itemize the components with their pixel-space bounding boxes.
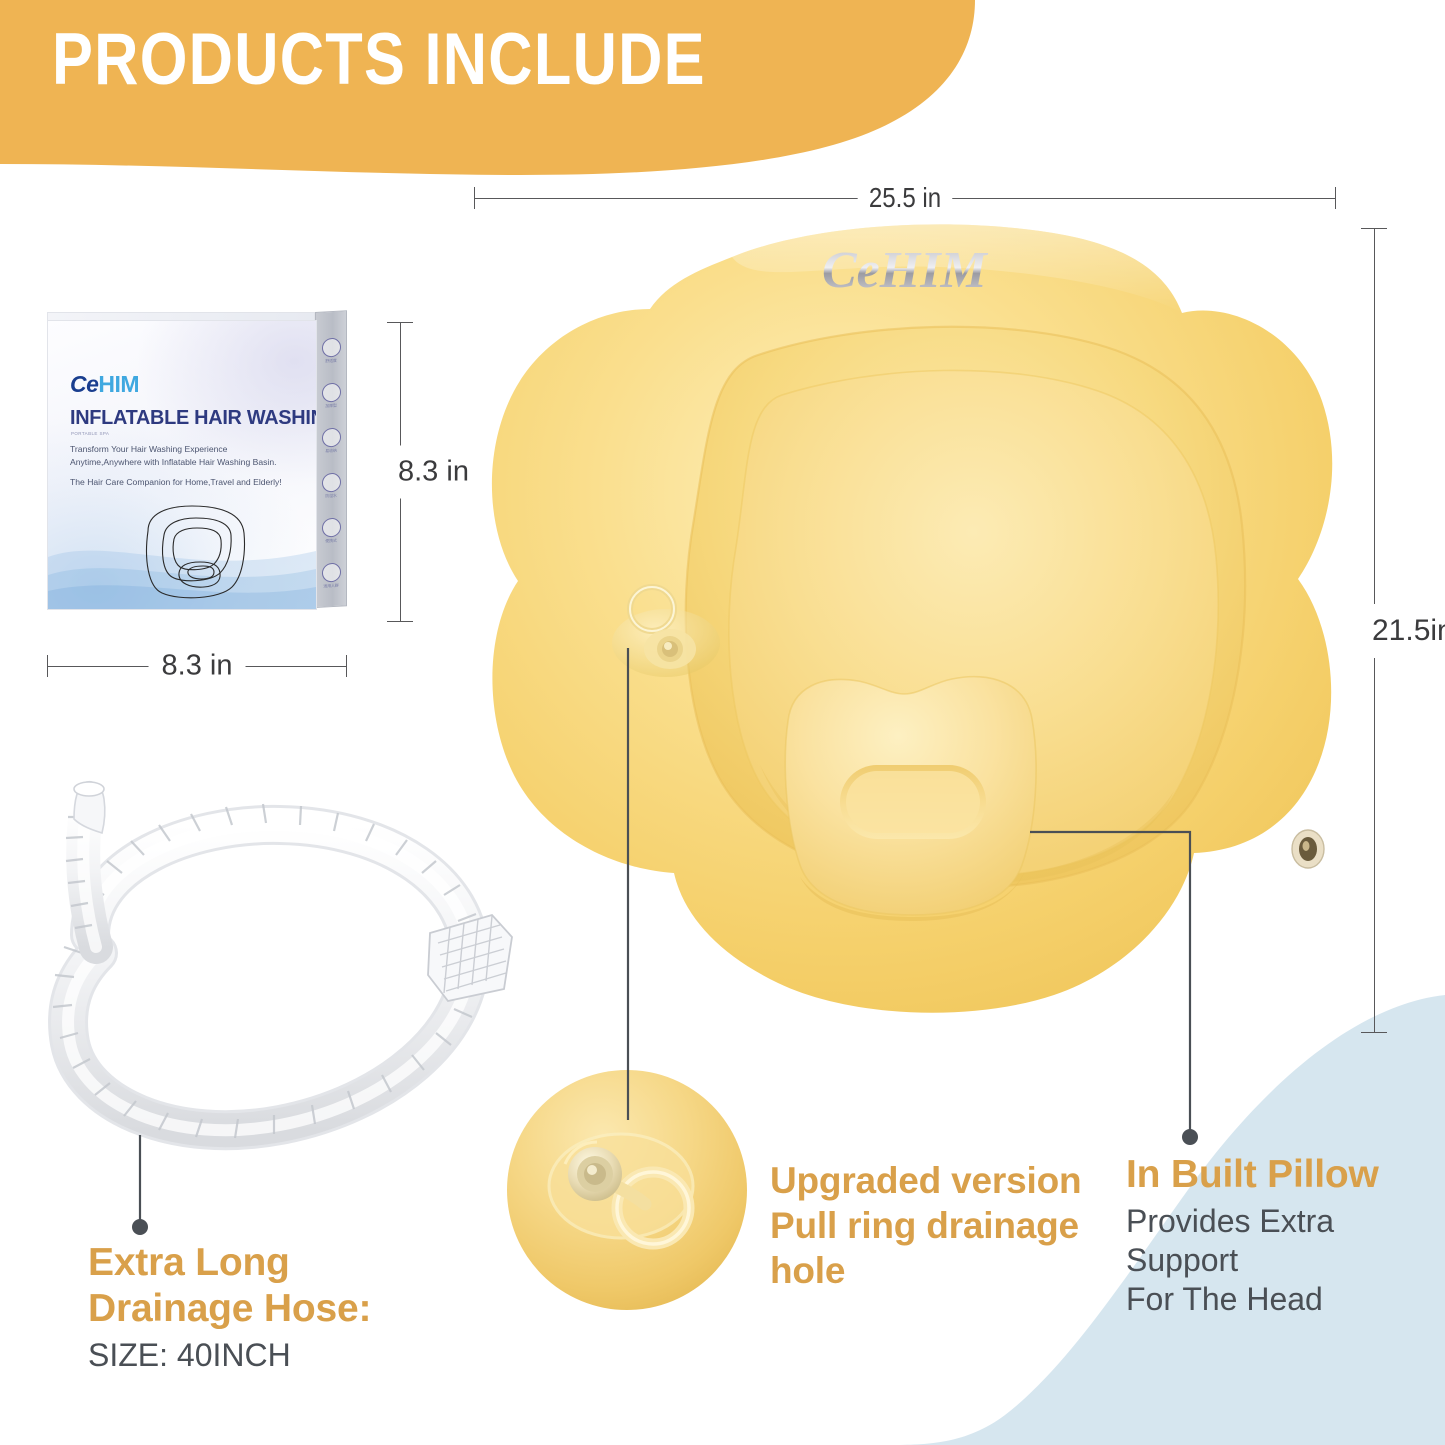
package-front-face: CeHIM INFLATABLE HAIR WASHING BASIN PORT… <box>47 320 317 610</box>
feature-icon-6-caption: 适用人群 <box>320 583 342 588</box>
package-width-label: 8.3 in <box>149 650 246 683</box>
callout-pillow-subtitle: Provides Extra Support For The Head <box>1126 1202 1445 1319</box>
feature-icon-5: 便携式 <box>320 517 342 543</box>
callout-hose: Extra Long Drainage Hose: SIZE: 40INCH <box>88 1240 508 1375</box>
package-description-line-1: Transform Your Hair Washing Experience A… <box>70 443 285 469</box>
inflatable-basin-image: CeHIM <box>470 205 1350 1045</box>
package-description-line-2: The Hair Care Companion for Home,Travel … <box>70 476 285 489</box>
package-width-dimension: 8.3 in <box>47 638 347 694</box>
basin-height-dimension: 21.5in <box>1352 228 1445 1033</box>
package-width-cap-left <box>47 655 48 677</box>
feature-icon-2: 加厚型 <box>320 382 342 408</box>
infographic-canvas: PRODUCTS INCLUDE 舒适度 加厚型 易收纳 防溢水 便携 <box>0 0 1445 1445</box>
package-line-art-basin <box>124 501 264 606</box>
package-brand-ce: Ce <box>70 371 98 397</box>
callout-pillow: In Built Pillow Provides Extra Support F… <box>1126 1152 1445 1319</box>
callout-hose-title: Extra Long Drainage Hose: <box>88 1240 508 1332</box>
callout-hose-subtitle: SIZE: 40INCH <box>88 1336 508 1375</box>
feature-icon-1-caption: 舒适度 <box>320 358 342 363</box>
feature-icon-3-caption: 易收纳 <box>320 448 342 453</box>
callout-drain: Upgraded version Pull ring drainage hole <box>770 1158 1120 1293</box>
feature-icon-1-glyph <box>322 338 341 358</box>
feature-icon-5-glyph <box>322 518 341 538</box>
package-description: Transform Your Hair Washing Experience A… <box>70 443 285 496</box>
built-in-pillow-graphic <box>785 677 1036 921</box>
basin-height-cap-top <box>1361 228 1387 229</box>
page-title: PRODUCTS INCLUDE <box>52 22 706 99</box>
package-width-cap-right <box>346 655 347 677</box>
feature-icon-5-caption: 便携式 <box>320 538 342 543</box>
basin-height-label: 21.5in <box>1366 604 1445 658</box>
package-micro-text: PORTABLE SPA <box>71 431 109 436</box>
basin-height-cap-bottom <box>1361 1032 1387 1033</box>
basin-brand-logo: CeHIM <box>822 242 988 299</box>
package-brand-him: HIM <box>98 371 139 397</box>
feature-icon-4-glyph <box>322 473 341 493</box>
feature-icon-2-glyph <box>322 383 341 403</box>
feature-icon-6: 适用人群 <box>320 562 342 588</box>
air-valve-graphic <box>1292 830 1324 868</box>
package-product-title: INFLATABLE HAIR WASHING BASIN <box>70 406 317 430</box>
feature-icon-4: 防溢水 <box>320 472 342 498</box>
feature-icon-6-glyph <box>322 563 341 583</box>
feature-icon-2-caption: 加厚型 <box>320 403 342 408</box>
feature-icon-4-caption: 防溢水 <box>320 493 342 498</box>
feature-icon-3: 易收纳 <box>320 427 342 453</box>
feature-icon-1: 舒适度 <box>320 337 342 363</box>
package-height-label: 8.3 in <box>392 446 475 499</box>
product-package-image: 舒适度 加厚型 易收纳 防溢水 便携式 适用人群 <box>47 312 347 622</box>
package-height-cap-top <box>387 322 413 323</box>
callout-pillow-title: In Built Pillow <box>1126 1152 1445 1198</box>
package-height-cap-bottom <box>387 621 413 622</box>
drainage-hose-image <box>18 775 518 1205</box>
callout-drain-title: Upgraded version Pull ring drainage hole <box>770 1158 1120 1293</box>
hose-connector-graphic <box>428 915 512 1001</box>
package-brand-logo: CeHIM <box>70 371 139 398</box>
package-side-panel: 舒适度 加厚型 易收纳 防溢水 便携式 适用人群 <box>315 310 347 608</box>
feature-icon-3-glyph <box>322 428 341 448</box>
drain-hole-detail-circle <box>505 1068 750 1313</box>
